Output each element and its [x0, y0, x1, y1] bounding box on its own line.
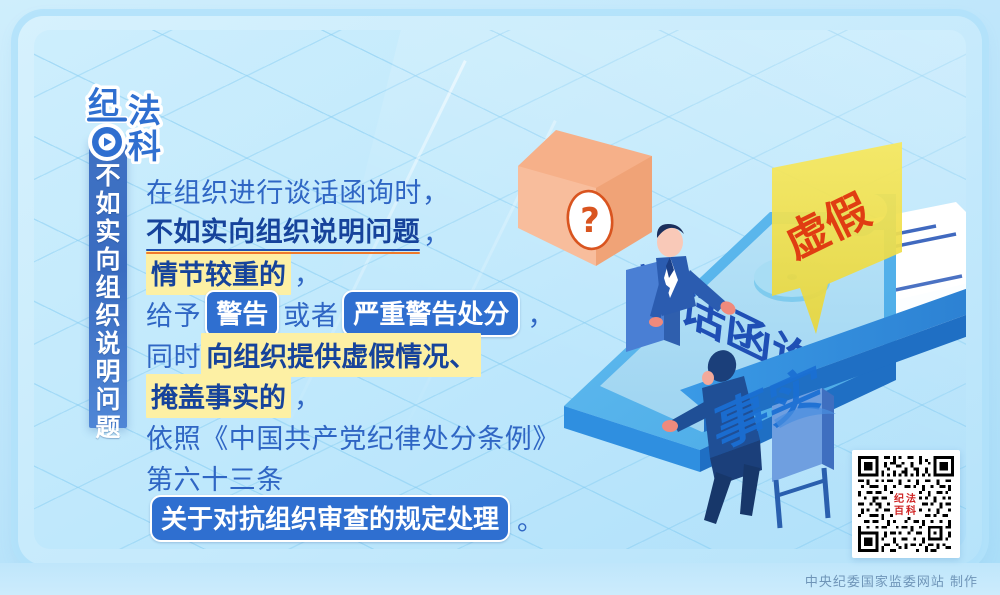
copy-line-4-middle: 或者 — [283, 294, 338, 333]
copy-line-5: 同时 向组织提供虚假情况、 — [146, 334, 546, 375]
copy-line-3-highlight: 情节较重的 — [146, 251, 291, 295]
vbanner-char-0: 不 — [95, 162, 120, 189]
copy-line-4-comma: ， — [524, 294, 554, 333]
copy-line-4: 给予 警告 或者 严重警告处分 ， — [146, 293, 546, 334]
copy-line-5-highlight: 向组织提供虚假情况、 — [201, 333, 481, 377]
vbanner-char-5: 织 — [95, 302, 120, 329]
vbanner-char-3: 向 — [95, 246, 120, 273]
vbanner-char-1: 如 — [95, 190, 120, 217]
poster-root: 谈话函询 ? — [0, 0, 1000, 595]
brand-logo[interactable]: 纪 法 科 纪 法 科 — [84, 82, 194, 164]
copy-line-5-lead: 同时 — [146, 335, 201, 374]
qr-center-logo: 纪 法 百 科 — [893, 491, 919, 517]
vbanner-char-9: 题 — [95, 414, 120, 441]
logo-char-ke: 科 — [128, 127, 161, 164]
qr-code[interactable]: 纪 法 百 科 — [852, 450, 960, 558]
copy-line-3: 情节较重的 ， — [146, 252, 546, 293]
vbanner-char-4: 组 — [95, 274, 120, 301]
footer-credit: 中央纪委国家监委网站 制作 — [805, 571, 978, 590]
copy-line-6-comma: ， — [291, 376, 321, 415]
logo-char-fa: 法 — [128, 91, 161, 130]
copy-line-6-highlight: 掩盖事实的 — [146, 374, 291, 418]
vbanner-char-6: 说 — [95, 330, 120, 357]
copy-line-4-lead: 给予 — [146, 294, 201, 333]
copy-line-9-period: 。 — [514, 499, 544, 538]
qr-logo-char-4: 科 — [906, 504, 916, 516]
body-copy: 在组织进行谈话函询时， 不如实向组织说明问题 ， 情节较重的 ， 给予 警告 或… — [146, 170, 546, 539]
copy-line-8-text: 第六十三条 — [146, 458, 284, 497]
poster-inner-panel: 谈话函询 ? — [34, 30, 966, 549]
regulation-badge: 关于对抗组织审查的规定处理 — [150, 495, 510, 542]
copy-line-2-comma: ， — [420, 212, 450, 251]
copy-line-2: 不如实向组织说明问题 ， — [146, 211, 546, 252]
vbanner-char-2: 实 — [95, 218, 120, 245]
copy-line-7: 依照《中国共产党纪律处分条例》 — [146, 416, 546, 457]
copy-line-2-emphasis: 不如实向组织说明问题 — [146, 210, 420, 254]
copy-line-8: 第六十三条 — [146, 457, 546, 498]
copy-line-1: 在组织进行谈话函询时， — [146, 170, 546, 211]
vbanner-char-7: 明 — [95, 358, 120, 385]
qr-logo-char-3: 百 — [894, 505, 904, 516]
copy-line-1-text: 在组织进行谈话函询时， — [146, 171, 450, 210]
qr-logo-char-1: 纪 — [894, 492, 904, 505]
vertical-title-banner: 不 如 实 向 组 织 说 明 问 题 — [89, 138, 127, 428]
copy-line-6: 掩盖事实的 ， — [146, 375, 546, 416]
penalty-badge-serious-warning: 严重警告处分 — [342, 290, 520, 337]
logo-play-circle-icon — [85, 116, 129, 161]
copy-line-9: 关于对抗组织审查的规定处理 。 — [146, 498, 546, 539]
question-mark-glyph: ? — [580, 201, 600, 241]
qr-code-modules: 纪 法 百 科 — [858, 456, 954, 552]
copy-line-3-comma: ， — [291, 253, 321, 292]
penalty-badge-warning: 警告 — [205, 290, 279, 337]
copy-line-7-text: 依照《中国共产党纪律处分条例》 — [146, 417, 560, 456]
qr-logo-char-2: 法 — [906, 492, 916, 505]
vbanner-char-8: 问 — [95, 386, 120, 413]
